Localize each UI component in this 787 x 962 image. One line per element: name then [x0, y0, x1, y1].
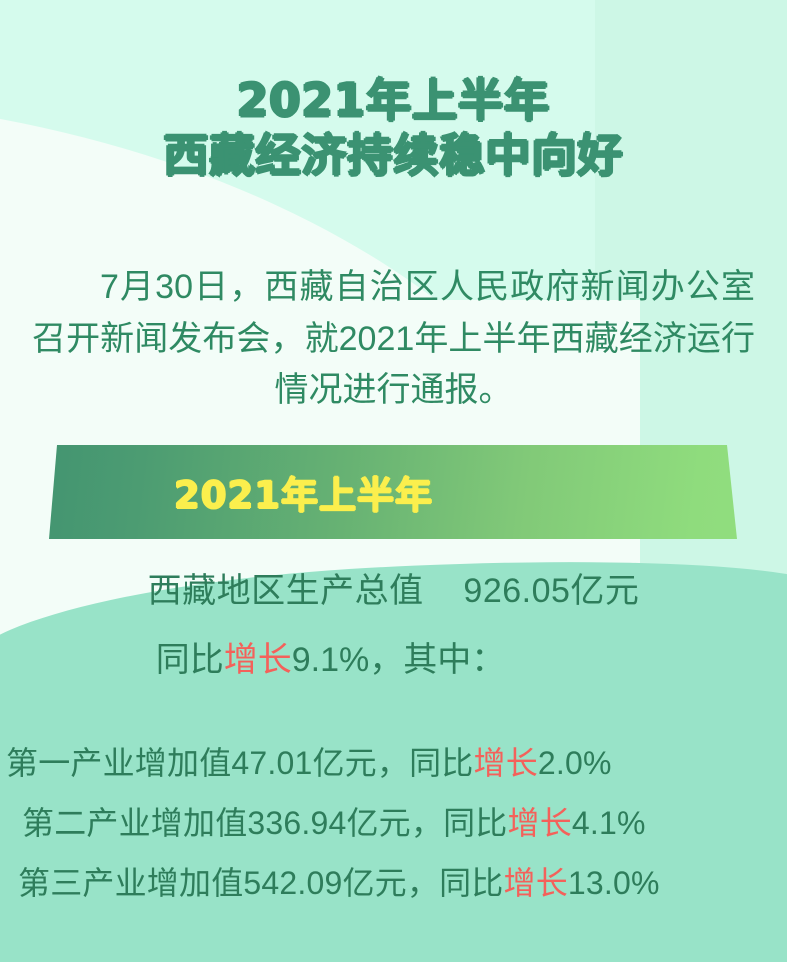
industry-mid: ，同比: [377, 747, 474, 779]
banner-label: 2021年上半年: [0, 443, 787, 541]
industry-row: 第三产业增加值542.09亿元，同比增长13.0%: [0, 853, 787, 913]
industry-row: 第二产业增加值336.94亿元，同比增长4.1%: [0, 793, 787, 853]
gdp-growth-suffix: ，其中：: [369, 641, 505, 679]
title-line-2: 西藏经济持续稳中向好: [0, 129, 787, 184]
industry-growth-highlight: 增长: [504, 867, 568, 899]
industry-prefix: 第二产业增加值: [22, 807, 247, 839]
lead-paragraph: 7月30日，西藏自治区人民政府新闻办公室召开新闻发布会，就2021年上半年西藏经…: [32, 262, 755, 417]
gdp-label: 西藏地区生产总值: [148, 572, 424, 610]
industry-value: 542.09亿元: [243, 867, 406, 899]
industry-growth-value: 4.1%: [572, 807, 646, 839]
period-banner: 2021年上半年: [0, 443, 787, 541]
gdp-line: 西藏地区生产总值 926.05亿元: [0, 565, 787, 618]
title-line-1: 2021年上半年: [0, 74, 787, 129]
industry-growth-highlight: 增长: [474, 747, 538, 779]
gdp-growth-prefix: 同比: [156, 641, 224, 679]
industry-mid: ，同比: [407, 867, 504, 899]
industry-growth-value: 13.0%: [568, 867, 660, 899]
industry-value: 336.94亿元: [247, 807, 410, 839]
industry-prefix: 第三产业增加值: [18, 867, 243, 899]
industry-value: 47.01亿元: [231, 747, 376, 779]
industry-growth-highlight: 增长: [508, 807, 572, 839]
industry-growth-value: 2.0%: [538, 747, 612, 779]
gdp-growth-highlight: 增长: [224, 641, 292, 679]
industry-breakdown: 第一产业增加值47.01亿元，同比增长2.0% 第二产业增加值336.94亿元，…: [0, 733, 787, 913]
infographic-poster: 2021年上半年 西藏经济持续稳中向好 7月30日，西藏自治区人民政府新闻办公室…: [0, 0, 787, 962]
industry-mid: ，同比: [411, 807, 508, 839]
industry-prefix: 第一产业增加值: [6, 747, 231, 779]
page-title: 2021年上半年 西藏经济持续稳中向好: [0, 74, 787, 184]
gdp-value: 926.05亿元: [463, 572, 639, 610]
gdp-growth-line: 同比增长9.1%，其中：: [0, 634, 787, 687]
headline-stat: 西藏地区生产总值 926.05亿元 同比增长9.1%，其中：: [0, 565, 787, 686]
gdp-growth-value: 9.1%: [292, 641, 370, 679]
industry-row: 第一产业增加值47.01亿元，同比增长2.0%: [0, 733, 787, 793]
